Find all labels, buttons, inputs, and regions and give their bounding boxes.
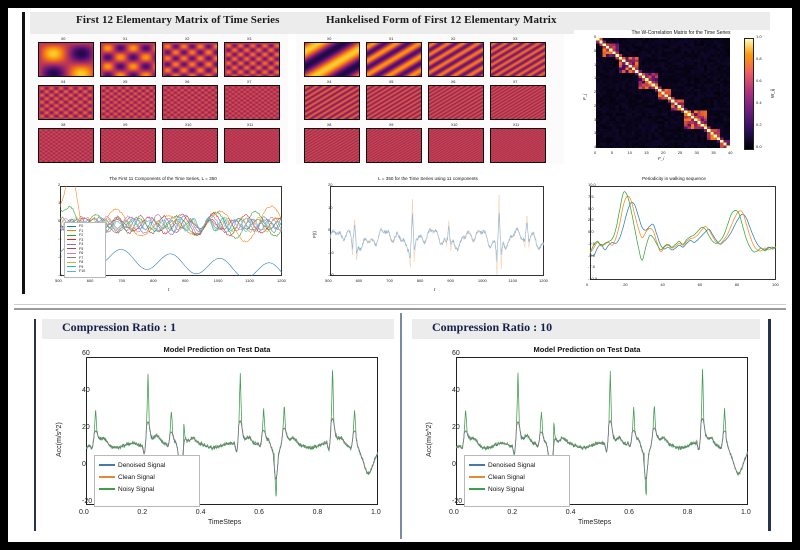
- matrix-cell: [162, 128, 218, 163]
- legend-label: Clean Signal: [118, 474, 155, 481]
- legend-label: F5: [79, 247, 83, 251]
- legend-item: Denoised Signal: [99, 459, 195, 471]
- matrix-cell-label: X1: [123, 37, 127, 41]
- matrix-cell: [304, 85, 360, 120]
- legend-item: Noisy Signal: [99, 483, 195, 495]
- axis-tick: 600: [87, 278, 94, 283]
- legend-item: Noisy Signal: [469, 483, 565, 495]
- model-prediction-left-title: Model Prediction on Test Data: [42, 345, 392, 354]
- matrix-cell-label: X8: [61, 123, 65, 127]
- legend-label: Noisy Signal: [118, 486, 154, 493]
- axis-tick: 20: [661, 150, 665, 155]
- model-prediction-right-xlabel: TimeSteps: [578, 519, 611, 526]
- axis-tick: 20: [623, 282, 627, 287]
- periodicity-chart: Periodicity in walking sequence 02040608…: [560, 176, 788, 298]
- wcorr-chart: The W-Correlation Matrix for the Time Se…: [574, 30, 788, 172]
- matrix-cell: [38, 42, 94, 77]
- hankelised-matrix-grid: X0X1X2X3X4X5X6X7X8X9X10X11: [296, 34, 564, 164]
- axis-tick: 0.2: [137, 509, 147, 516]
- axis-tick: 15: [644, 150, 648, 155]
- axis-tick: 25: [678, 150, 682, 155]
- legend-swatch: [67, 271, 76, 272]
- legend-item: F10: [67, 269, 103, 274]
- axis-tick: 30: [695, 150, 699, 155]
- matrix-cell-label: X4: [61, 80, 65, 84]
- matrix-cell-label: X7: [513, 80, 517, 84]
- wcorr-ylabel: F_j: [582, 94, 587, 100]
- components-chart-title: The First 11 Components of the Time Seri…: [34, 176, 292, 181]
- section-divider: [14, 308, 786, 310]
- legend-swatch: [67, 239, 76, 240]
- axis-tick: 0.8: [756, 56, 762, 61]
- axis-tick: 1000: [478, 278, 487, 283]
- axis-tick: 80: [735, 282, 739, 287]
- axis-tick: 35: [711, 150, 715, 155]
- matrix-cell-label: X11: [247, 123, 253, 127]
- legend-swatch: [67, 230, 76, 231]
- model-prediction-right-ylabel: Acc(m/s^2): [426, 422, 433, 457]
- legend-label: Clean Signal: [488, 474, 525, 481]
- compression-panel-right: Compression Ratio : 10 Model Prediction …: [404, 311, 792, 542]
- periodicity-lines: [590, 186, 776, 280]
- model-prediction-chart-left: Model Prediction on Test Data 0.00.20.40…: [42, 343, 392, 533]
- axis-tick: 0: [594, 150, 596, 155]
- matrix-cell: [162, 85, 218, 120]
- axis-tick: 0.0: [79, 509, 89, 516]
- legend-swatch: [469, 476, 485, 478]
- legend-swatch: [67, 262, 76, 263]
- matrix-cell-label: X2: [451, 37, 455, 41]
- matrix-cell-label: X4: [327, 80, 331, 84]
- legend-label: Noisy Signal: [488, 486, 524, 493]
- legend-label: F8: [79, 260, 83, 264]
- matrix-cell: [490, 42, 546, 77]
- axis-tick: 0.6: [624, 509, 634, 516]
- axis-tick: 0.8: [683, 509, 693, 516]
- axis-tick: 1000: [214, 278, 223, 283]
- model-prediction-chart-right: Model Prediction on Test Data 0.00.20.40…: [412, 343, 762, 533]
- matrix-cell-label: X2: [185, 37, 189, 41]
- reconstruction-chart: L = 350 for the Time Series using 11 com…: [304, 176, 552, 298]
- legend-label: F2: [79, 233, 83, 237]
- matrix-cell-label: X10: [451, 123, 457, 127]
- axis-tick: 1.0: [756, 34, 762, 39]
- axis-tick: 1.0: [741, 509, 751, 516]
- axis-tick: 1200: [539, 278, 548, 283]
- compression-panel-left: Compression Ratio : 1 Model Prediction o…: [8, 311, 400, 542]
- matrix-cell: [38, 128, 94, 163]
- matrix-cell-label: X8: [327, 123, 331, 127]
- matrix-cell-label: X0: [61, 37, 65, 41]
- wcorr-xlabel: F_i: [658, 156, 664, 161]
- matrix-cell: [490, 85, 546, 120]
- components-xlabel: t: [168, 287, 169, 292]
- legend-label: Denoised Signal: [118, 462, 165, 469]
- matrix-cell: [304, 42, 360, 77]
- axis-tick: 100: [772, 282, 779, 287]
- legend-item: Clean Signal: [469, 471, 565, 483]
- matrix-cell: [366, 85, 422, 120]
- axis-tick: 900: [447, 278, 454, 283]
- matrix-cell: [224, 42, 280, 77]
- poster-frame: First 12 Elementary Matrix of Time Serie…: [8, 8, 792, 542]
- matrix-cell: [162, 42, 218, 77]
- axis-tick: 0: [586, 282, 588, 287]
- legend-swatch: [67, 253, 76, 254]
- legend-swatch: [99, 476, 115, 478]
- legend-swatch: [67, 235, 76, 236]
- matrix-cell-label: X5: [389, 80, 393, 84]
- legend-swatch: [67, 248, 76, 249]
- axis-tick: 500: [325, 278, 332, 283]
- matrix-cell: [38, 85, 94, 120]
- matrix-cell-label: X6: [451, 80, 455, 84]
- axis-tick: 0.4: [566, 509, 576, 516]
- matrix-cell-label: X10: [185, 123, 191, 127]
- matrix-cell: [100, 128, 156, 163]
- model-prediction-left-legend: Denoised SignalClean SignalNoisy Signal: [94, 455, 200, 507]
- legend-swatch: [67, 244, 76, 245]
- components-legend: F0F1F2F3F4F5F6F7F8F9F10: [64, 222, 106, 278]
- legend-label: F10: [79, 269, 85, 273]
- legend-swatch: [469, 488, 485, 490]
- matrix-cell: [224, 85, 280, 120]
- matrix-cell: [366, 42, 422, 77]
- compression-ratio-right-heading: Compression Ratio : 10: [432, 320, 552, 335]
- matrix-cell: [100, 85, 156, 120]
- components-chart: The First 11 Components of the Time Seri…: [34, 176, 292, 298]
- axis-tick: 800: [417, 278, 424, 283]
- axis-tick: 0.2: [507, 509, 517, 516]
- matrix-cell: [224, 128, 280, 163]
- legend-item: Clean Signal: [99, 471, 195, 483]
- axis-tick: 0.8: [313, 509, 323, 516]
- model-prediction-left-xlabel: TimeSteps: [208, 519, 241, 526]
- matrix-cell-label: X1: [389, 37, 393, 41]
- matrix-cell: [100, 42, 156, 77]
- axis-tick: 1.0: [371, 509, 381, 516]
- axis-tick: 700: [386, 278, 393, 283]
- matrix-cell: [366, 128, 422, 163]
- axis-tick: 800: [150, 278, 157, 283]
- right-panel-rule: [768, 319, 771, 531]
- legend-label: F3: [79, 238, 83, 242]
- wcorr-heatmap: [596, 38, 730, 148]
- model-prediction-right-legend: Denoised SignalClean SignalNoisy Signal: [464, 455, 570, 507]
- matrix-cell: [428, 128, 484, 163]
- legend-label: F7: [79, 256, 83, 260]
- axis-tick: 40: [660, 282, 664, 287]
- axis-tick: 1200: [277, 278, 286, 283]
- matrix-cell-label: X0: [327, 37, 331, 41]
- wcorr-colorbar: [744, 38, 754, 150]
- bottom-section: Compression Ratio : 1 Model Prediction o…: [8, 311, 792, 542]
- axis-tick: 900: [182, 278, 189, 283]
- bottom-center-divider: [400, 313, 402, 539]
- panel-title-elementary-matrix: First 12 Elementary Matrix of Time Serie…: [76, 14, 279, 26]
- axis-tick: 0.4: [196, 509, 206, 516]
- axis-tick: 10: [628, 150, 632, 155]
- axis-tick: 0.2: [756, 122, 762, 127]
- legend-swatch: [99, 488, 115, 490]
- matrix-cell-label: X9: [123, 123, 127, 127]
- axis-tick: 500: [55, 278, 62, 283]
- elementary-matrix-grid: X0X1X2X3X4X5X6X7X8X9X10X11: [30, 34, 288, 164]
- reconstruction-chart-title: L = 350 for the Time Series using 11 com…: [304, 176, 552, 181]
- axis-tick: 40: [728, 150, 732, 155]
- matrix-cell: [428, 42, 484, 77]
- model-prediction-left-ylabel: Acc(m/s^2): [56, 422, 63, 457]
- matrix-cell: [490, 128, 546, 163]
- legend-label: F4: [79, 242, 83, 246]
- matrix-cell-label: X3: [513, 37, 517, 41]
- panel-title-hankelised-matrix: Hankelised Form of First 12 Elementary M…: [326, 14, 557, 26]
- axis-tick: 0.6: [756, 78, 762, 83]
- top-section: First 12 Elementary Matrix of Time Serie…: [8, 8, 792, 300]
- axis-tick: 0.4: [756, 100, 762, 105]
- periodicity-chart-title: Periodicity in walking sequence: [560, 176, 788, 181]
- matrix-cell-label: X3: [247, 37, 251, 41]
- wcorr-colorbar-label: W_ij: [770, 89, 775, 98]
- reconstruction-ylabel: F(t): [312, 231, 317, 238]
- matrix-cell: [304, 128, 360, 163]
- left-panel-rule: [34, 319, 36, 531]
- axis-tick: 700: [118, 278, 125, 283]
- axis-tick: 0.0: [756, 144, 762, 149]
- legend-swatch: [67, 226, 76, 227]
- axis-tick: 0.0: [449, 509, 459, 516]
- legend-label: F0: [79, 224, 83, 228]
- legend-swatch: [67, 266, 76, 267]
- axis-tick: 5: [611, 150, 613, 155]
- axis-tick: 0.6: [254, 509, 264, 516]
- axis-tick: 60: [698, 282, 702, 287]
- reconstruction-lines: [330, 186, 544, 276]
- legend-swatch: [469, 464, 485, 466]
- axis-tick: 1100: [245, 278, 254, 283]
- matrix-cell-label: X6: [185, 80, 189, 84]
- top-left-rule: [22, 12, 25, 294]
- axis-tick: 1100: [508, 278, 517, 283]
- matrix-cell-label: X7: [247, 80, 251, 84]
- reconstruction-xlabel: t: [434, 287, 435, 292]
- matrix-cell-label: X5: [123, 80, 127, 84]
- legend-item: Denoised Signal: [469, 459, 565, 471]
- model-prediction-right-title: Model Prediction on Test Data: [412, 345, 762, 354]
- legend-label: Denoised Signal: [488, 462, 535, 469]
- section-divider-light: [14, 304, 786, 305]
- legend-label: F9: [79, 265, 83, 269]
- matrix-cell: [428, 85, 484, 120]
- matrix-cell-label: X9: [389, 123, 393, 127]
- legend-swatch: [99, 464, 115, 466]
- legend-swatch: [67, 257, 76, 258]
- matrix-cell-label: X11: [513, 123, 519, 127]
- compression-ratio-left-heading: Compression Ratio : 1: [62, 320, 176, 335]
- axis-tick: 600: [356, 278, 363, 283]
- wcorr-canvas: [596, 38, 730, 148]
- legend-label: F1: [79, 229, 83, 233]
- legend-label: F6: [79, 251, 83, 255]
